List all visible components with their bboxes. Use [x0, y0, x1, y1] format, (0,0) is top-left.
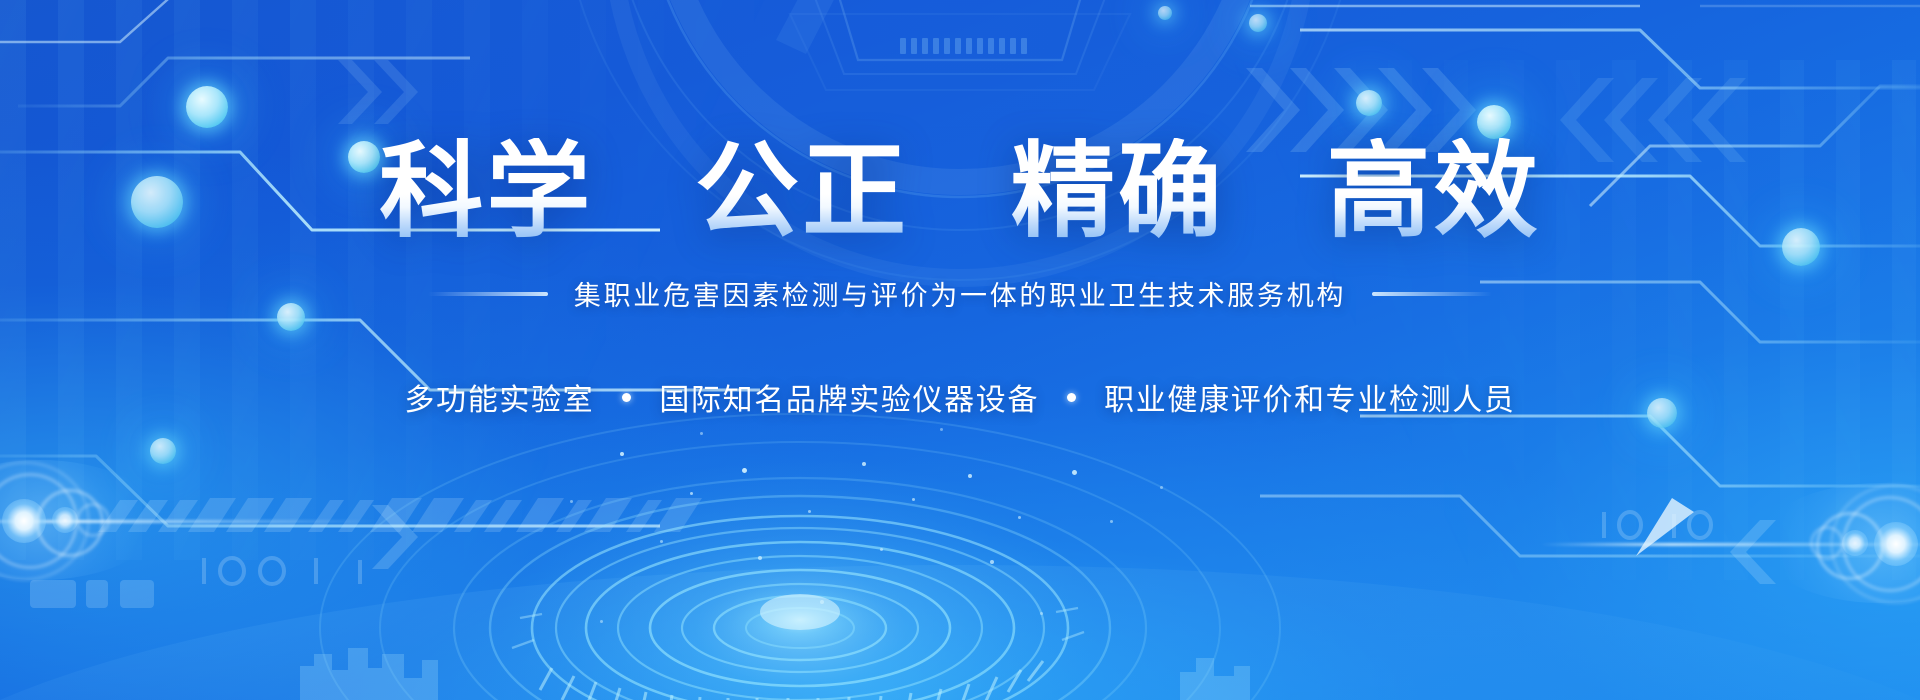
banner-title: 科学 公正 精确 高效: [379, 138, 1540, 246]
title-word-3: 精确: [1011, 134, 1225, 250]
title-word-1: 科学: [379, 134, 593, 250]
subtitle-row: 集职业危害因素检测与评价为一体的职业卫生技术服务机构: [428, 274, 1492, 313]
feature-item-2: 国际知名品牌实验仪器设备: [659, 375, 1039, 419]
feature-item-3: 职业健康评价和专业检测人员: [1104, 375, 1515, 419]
banner-content: 科学 公正 精确 高效 集职业危害因素检测与评价为一体的职业卫生技术服务机构 多…: [0, 0, 1920, 700]
feature-list: 多功能实验室 国际知名品牌实验仪器设备 职业健康评价和专业检测人员: [404, 375, 1515, 419]
title-word-4: 高效: [1326, 134, 1540, 250]
feature-separator-dot-icon: [1067, 393, 1076, 402]
feature-item-1: 多功能实验室: [404, 375, 594, 419]
subtitle-rule-left: [428, 292, 548, 296]
feature-separator-dot-icon: [622, 393, 631, 402]
banner-subtitle: 集职业危害因素检测与评价为一体的职业卫生技术服务机构: [574, 274, 1346, 313]
subtitle-rule-right: [1372, 292, 1492, 296]
title-word-2: 公正: [695, 134, 909, 250]
tech-banner: 科学 公正 精确 高效 集职业危害因素检测与评价为一体的职业卫生技术服务机构 多…: [0, 0, 1920, 700]
